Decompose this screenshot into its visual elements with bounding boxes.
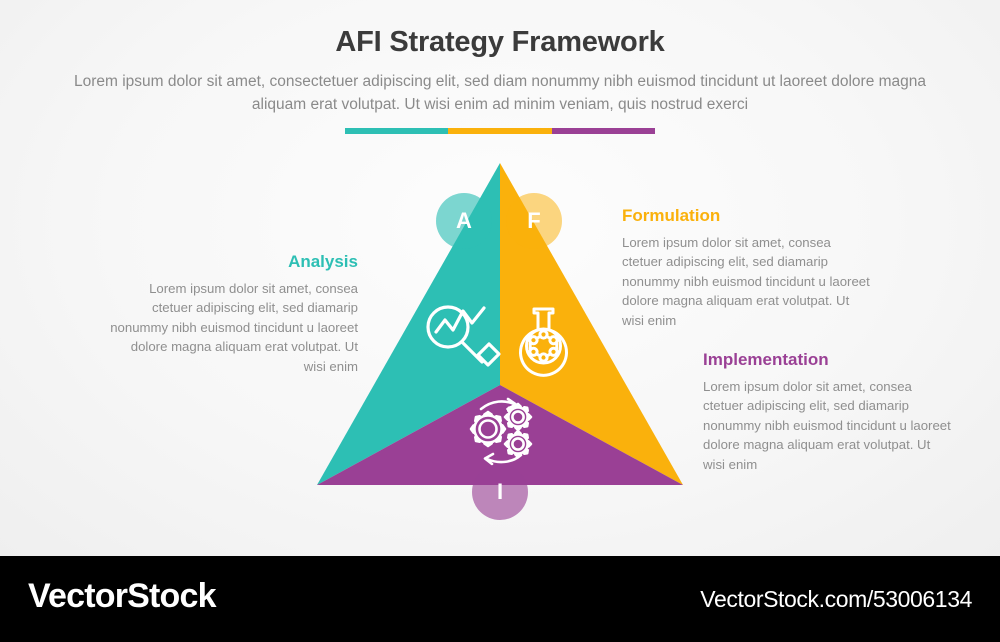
badge-formulation[interactable]: F (506, 193, 562, 249)
description-formulation: Lorem ipsum dolor sit amet, consea ctetu… (622, 233, 872, 331)
badge-analysis-letter: A (456, 210, 472, 232)
badge-formulation-letter: F (527, 210, 540, 232)
tricolor-divider (345, 128, 655, 134)
divider-segment-analysis (345, 128, 448, 134)
heading-implementation: Implementation (703, 350, 953, 370)
page-title: AFI Strategy Framework (0, 26, 1000, 59)
page-subtitle: Lorem ipsum dolor sit amet, consectetuer… (50, 70, 950, 116)
divider-segment-formulation (448, 128, 551, 134)
badge-implementation[interactable]: I (472, 464, 528, 520)
description-analysis: Lorem ipsum dolor sit amet, consea ctetu… (110, 279, 358, 377)
description-implementation: Lorem ipsum dolor sit amet, consea ctetu… (703, 377, 953, 475)
heading-formulation: Formulation (622, 206, 872, 226)
badge-analysis[interactable]: A (436, 193, 492, 249)
watermark-url: VectorStock.com/53006134 (700, 586, 972, 613)
divider-segment-implementation (552, 128, 655, 134)
infographic-canvas: AFI Strategy Framework Lorem ipsum dolor… (0, 0, 1000, 642)
badge-implementation-letter: I (497, 481, 503, 503)
watermark-brand: VectorStock (28, 577, 216, 616)
text-block-implementation: Implementation Lorem ipsum dolor sit ame… (703, 350, 953, 474)
text-block-formulation: Formulation Lorem ipsum dolor sit amet, … (622, 206, 872, 330)
watermark-footer: VectorStock VectorStock.com/53006134 (0, 556, 1000, 642)
text-block-analysis: Analysis Lorem ipsum dolor sit amet, con… (110, 252, 358, 376)
heading-analysis: Analysis (110, 252, 358, 272)
